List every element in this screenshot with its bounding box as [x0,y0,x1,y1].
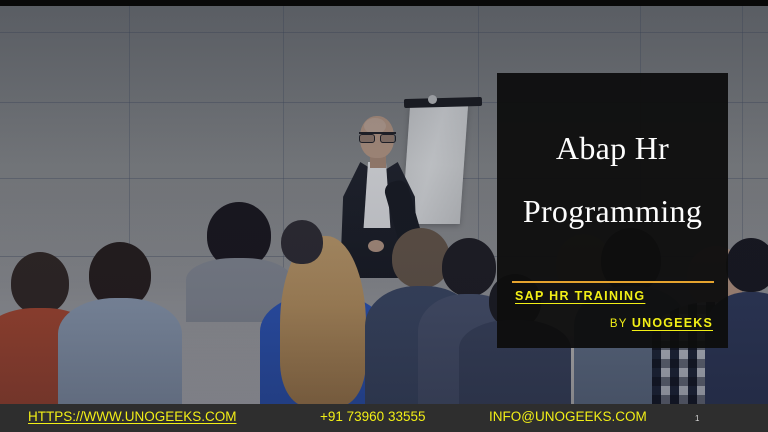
presenter-glasses [359,132,396,142]
wall-seam-horizontal [0,32,768,33]
flipchart-knob [428,95,437,104]
audience-member [72,242,168,404]
footer-phone-number: +91 73960 33555 [320,409,425,424]
title-overlay-card: Abap Hr Programming SAP HR TRAINING BY U… [497,73,728,348]
audience-head [11,252,69,314]
audience-head [726,238,768,292]
title-line-2: Programming [497,180,728,243]
audience-body [58,298,182,404]
title-line-1: Abap Hr [497,117,728,180]
slide-page-number: 1 [695,414,699,423]
top-black-bar [0,0,768,6]
subtitle-text: SAP HR TRAINING [515,289,715,303]
footer-bar: HTTPS://WWW.UNOGEEKS.COM +91 73960 33555… [0,404,768,432]
footer-email-address[interactable]: INFO@UNOGEEKS.COM [489,409,647,424]
byline: BY UNOGEEKS [515,316,713,330]
presentation-slide: Abap Hr Programming SAP HR TRAINING BY U… [0,0,768,432]
title-block: Abap Hr Programming [497,117,728,243]
accent-divider [512,281,714,283]
audience-member [284,252,332,300]
footer-website-link[interactable]: HTTPS://WWW.UNOGEEKS.COM [28,409,237,424]
byline-prefix: BY [610,318,628,330]
byline-brand: UNOGEEKS [632,316,713,330]
